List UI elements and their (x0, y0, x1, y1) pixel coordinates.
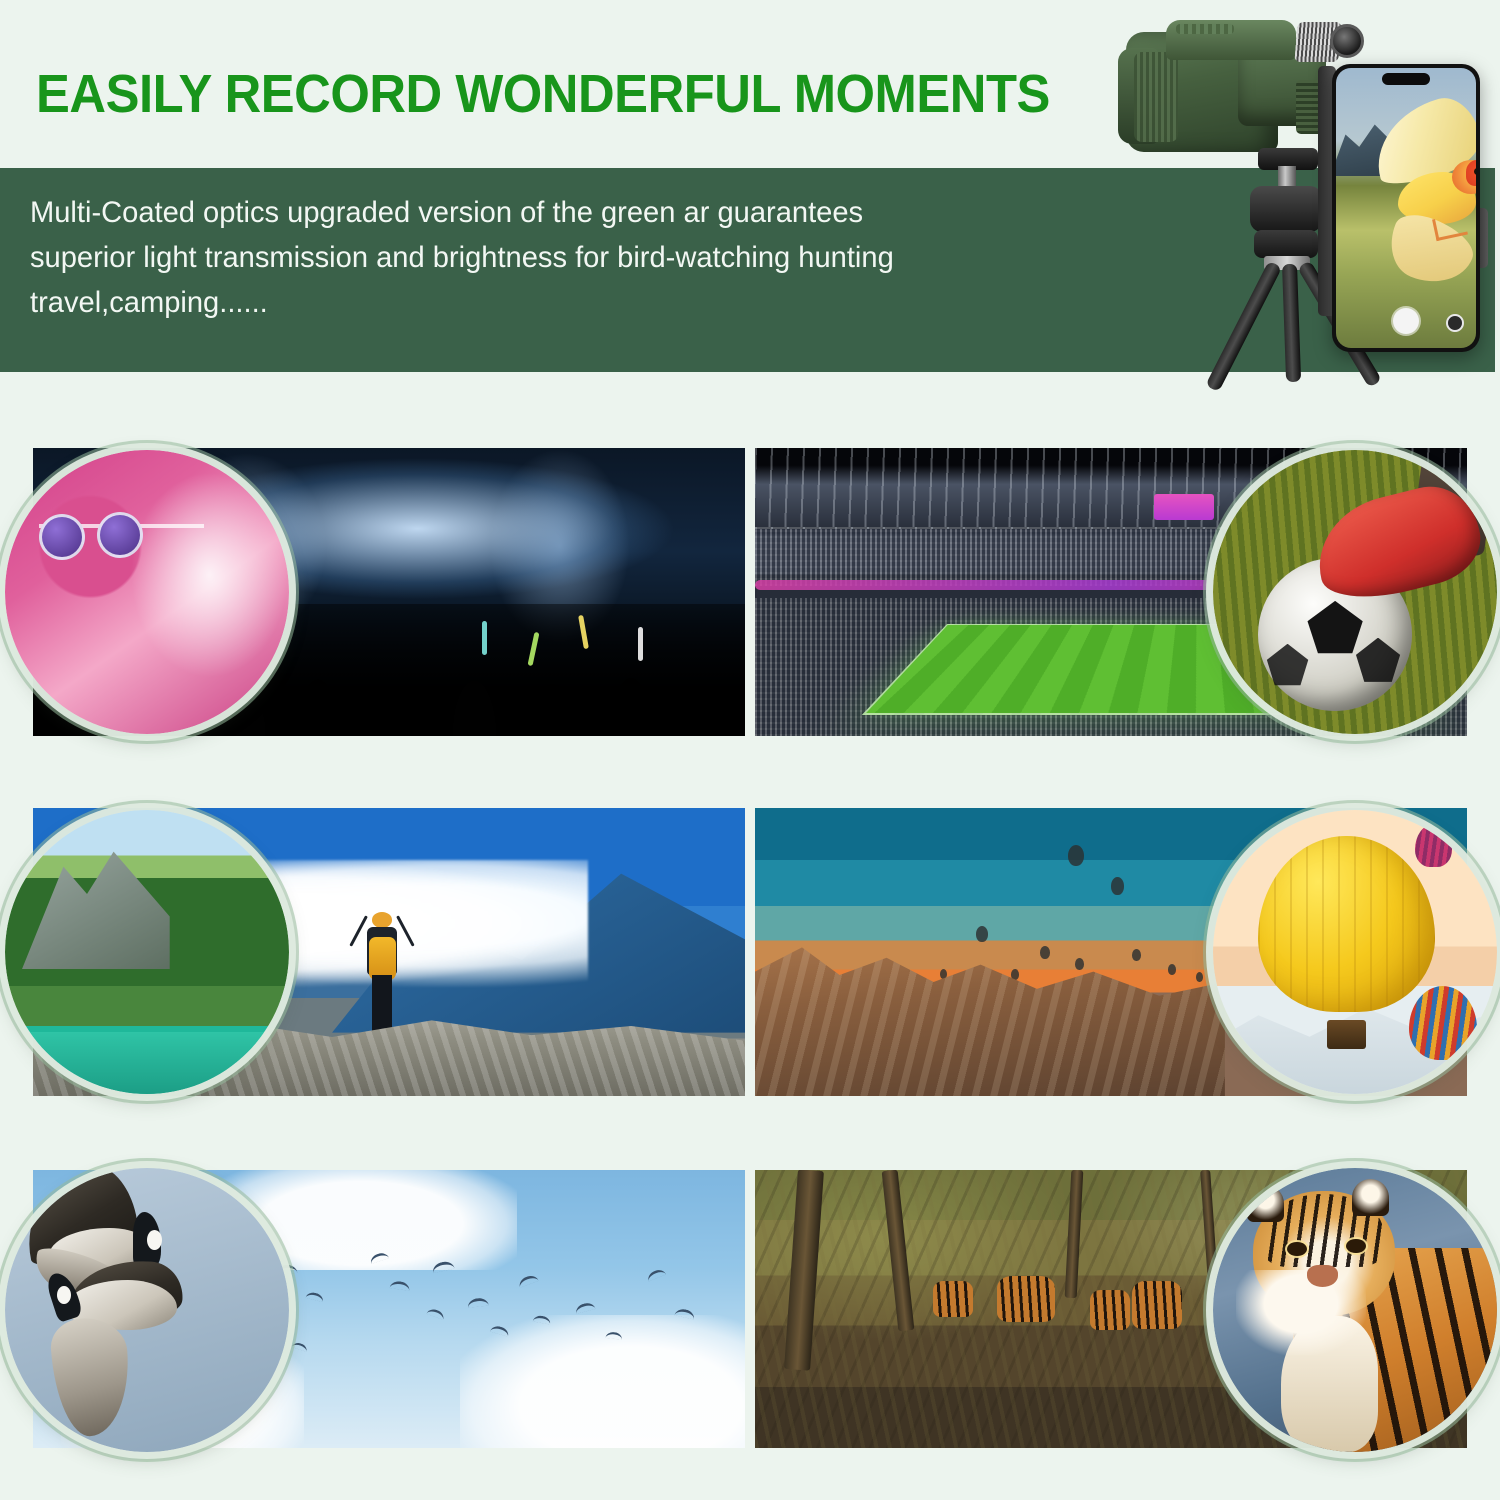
cappadocia-town (755, 923, 1225, 1096)
inset-circle-geese (5, 1168, 289, 1452)
hiker-head (372, 912, 393, 928)
inset-circle-tiger (1213, 1168, 1497, 1452)
product-image-monocular (1118, 8, 1493, 408)
stadium-scoreboard (1154, 494, 1214, 520)
tiger-cub-3 (1090, 1290, 1130, 1330)
tiger-cub-4 (1132, 1281, 1182, 1329)
hiker-backpack (369, 937, 395, 979)
gallery-panel-birds (33, 1170, 745, 1448)
mountain-peak (22, 844, 170, 969)
alpine-valley (5, 810, 289, 1094)
tiger-ear-right (1352, 1179, 1389, 1216)
camera-mode-icon[interactable] (1446, 314, 1464, 332)
lovebird-eye (1474, 168, 1476, 175)
balloon-gores (1258, 836, 1434, 1012)
tiger-ruff (1236, 1270, 1367, 1355)
tiger-cub-2 (933, 1281, 973, 1317)
hiker-figure (361, 903, 404, 1035)
gallery-panel-stadium (755, 448, 1467, 736)
small-balloon-top (1415, 824, 1452, 867)
product-marketing-page: EASILY RECORD WONDERFUL MOMENTS Multi-Co… (0, 0, 1500, 1500)
use-case-gallery (33, 448, 1467, 1448)
phone-notch (1382, 73, 1430, 85)
gallery-panel-balloons (755, 808, 1467, 1096)
inset-circle-alpine-lake (5, 810, 289, 1094)
striped-balloon (1409, 986, 1477, 1060)
tripod-lock-collar (1254, 230, 1318, 258)
scope-top-grip (1176, 24, 1234, 34)
scope-grip-rings (1134, 52, 1178, 142)
tiger-cub-1 (997, 1276, 1055, 1322)
inset-circle-soccer (1213, 450, 1497, 734)
feature-description: Multi-Coated optics upgraded version of … (30, 190, 961, 325)
yellow-hot-air-balloon (1258, 836, 1434, 1012)
gallery-panel-tigers (755, 1170, 1467, 1448)
inset-circle-concert (5, 450, 289, 734)
tripod-ball-joint (1250, 186, 1322, 232)
gallery-panel-concert (33, 448, 745, 736)
tiger-ear-left (1247, 1185, 1284, 1222)
camera-shutter-button[interactable] (1393, 308, 1419, 334)
turquoise-lake (5, 1032, 289, 1094)
concert-couple (5, 450, 289, 734)
tripod-leg-center (1282, 264, 1301, 382)
balloon-basket (1327, 1020, 1367, 1048)
inset-circle-balloon (1213, 810, 1497, 1094)
scope-eyepiece (1330, 24, 1364, 58)
phone-screen (1336, 68, 1476, 348)
page-title: EASILY RECORD WONDERFUL MOMENTS (36, 66, 1050, 123)
hiker-legs (372, 975, 393, 1036)
tiger-eye-left (1287, 1242, 1307, 1256)
smartphone (1332, 64, 1480, 352)
tripod-leg-left (1205, 261, 1282, 393)
gallery-panel-hiking (33, 808, 745, 1096)
